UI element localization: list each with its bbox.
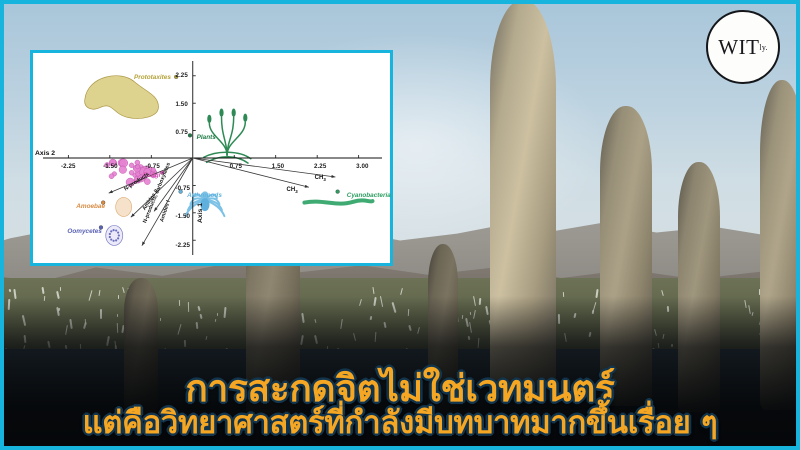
ordination-scatter-plot: -2.25-1.50-0.750.751.502.253.002.251.500…: [33, 53, 390, 263]
x-axis-label: Axis 2: [35, 150, 55, 157]
y-tick-label: -2.25: [175, 242, 190, 249]
headline-banner: การสะกดจิตไม่ใช่เวทมนตร์ แต่คือวิทยาศาสต…: [4, 370, 796, 440]
y-tick-label: -1.50: [175, 213, 190, 220]
loading-vector: [193, 158, 309, 187]
vector-label-ch3: CH3: [287, 187, 298, 194]
headline-line-1: การสะกดจิตไม่ใช่เวทมนตร์: [10, 370, 790, 408]
point-label-prototaxites: Prototaxites: [134, 74, 171, 81]
y-axis-label: Axis 1: [197, 203, 204, 223]
x-tick-label: 3.00: [356, 163, 368, 170]
vector-label-ch3: CH3: [315, 175, 326, 182]
image-canvas: WITly. -2.25-1.50-0.750.751.502.253.002.…: [0, 0, 800, 450]
oomycete-illustration: [106, 225, 123, 245]
data-point: [336, 190, 340, 194]
logo-suffix: ly.: [759, 43, 767, 52]
x-tick-label: -2.25: [61, 163, 76, 170]
point-label-plants: Plants: [197, 134, 216, 141]
headline-line-2: แต่คือวิทยาศาสตร์ที่กำลังมีบทบาทมากขึ้นเ…: [10, 408, 790, 440]
point-label-cyanobacteria: Cyanobacteria: [347, 192, 391, 199]
logo-wordmark: WIT: [718, 37, 759, 58]
point-label-oomycetes: Oomycetes: [67, 228, 101, 235]
x-tick-label: -1.50: [103, 163, 118, 170]
x-tick-label: 1.50: [272, 163, 284, 170]
chart-panel: -2.25-1.50-0.750.751.502.253.002.251.500…: [30, 50, 393, 266]
point-label-amoebae: Amoebae: [76, 203, 105, 210]
x-tick-label: -0.75: [145, 163, 160, 170]
x-tick-label: 2.25: [314, 163, 326, 170]
cyanobacteria-mat-illustration: [304, 200, 372, 203]
amoeba-illustration: [116, 197, 132, 216]
data-point: [188, 133, 192, 137]
y-tick-label: 1.50: [175, 101, 187, 108]
prototaxites-blob-illustration: [85, 76, 159, 119]
y-tick-label: 0.75: [175, 129, 187, 136]
brand-logo: WITly.: [706, 10, 780, 84]
y-tick-label: 2.25: [175, 72, 187, 79]
point-label-arthropods: Arthropods: [187, 192, 222, 199]
x-tick-label: 0.75: [230, 163, 242, 170]
